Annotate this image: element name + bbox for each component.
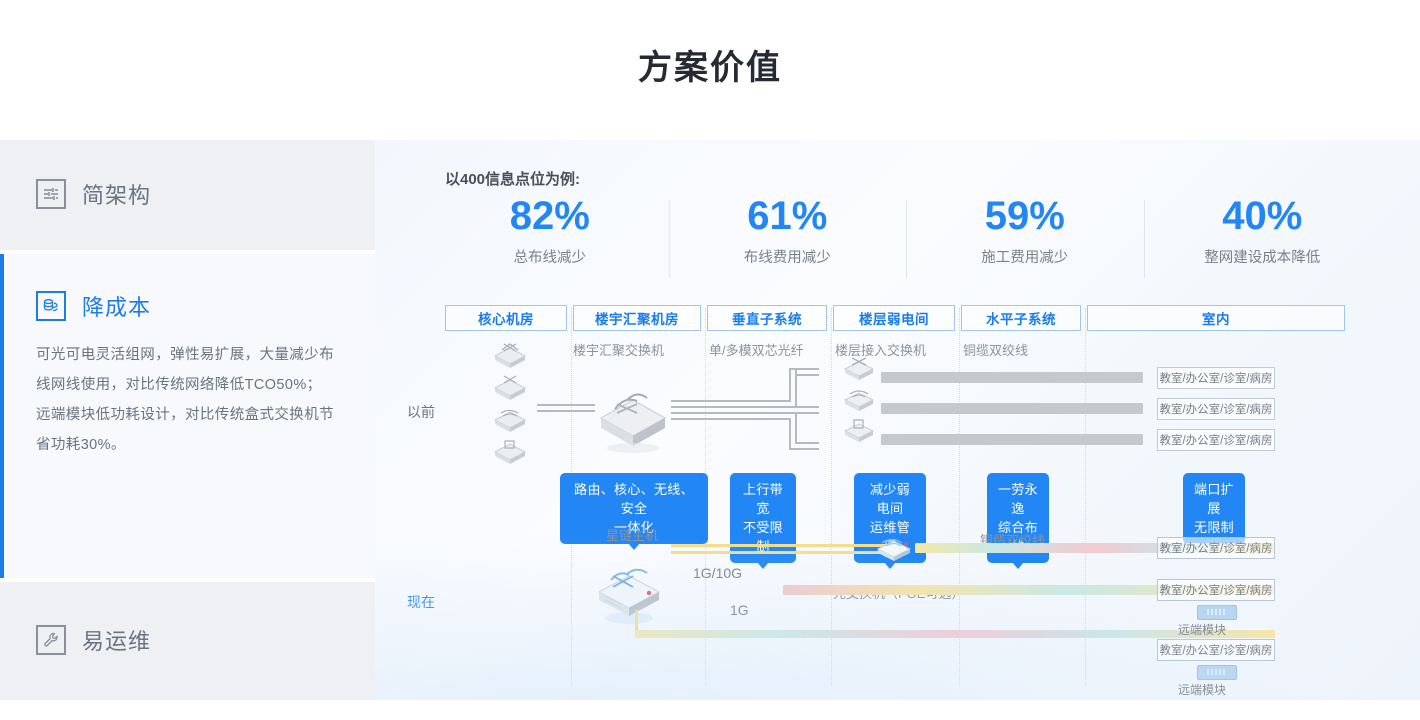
stat-item: 82% 总布线减少 — [431, 192, 669, 278]
floor-access-switch-icon — [841, 385, 877, 415]
copper-cable-bar — [881, 372, 1143, 383]
room-label: 教室/办公室/诊室/病房 — [1157, 367, 1275, 389]
stats-row: 82% 总布线减少 61% 布线费用减少 59% 施工费用减少 40% 整网建设… — [431, 192, 1381, 278]
callout-caption-twisted-pair: 铜缆双绞线 — [980, 530, 1045, 549]
room-label: 教室/办公室/诊室/病房 — [1157, 429, 1275, 451]
value-diagram-panel: 以400信息点位为例: 82% 总布线减少 61% 布线费用减少 59% 施工费… — [375, 140, 1420, 700]
wrench-icon — [36, 625, 66, 655]
stat-value: 40% — [1144, 192, 1382, 240]
sidebar-item-jiangchengben[interactable]: 降成本 可光可电灵活组网，弹性易扩展，大量减少布线网线使用，对比传统网络降低TC… — [0, 254, 375, 578]
copper-cable-bar — [881, 434, 1143, 445]
sidebar-item-header: 简架构 — [0, 140, 375, 210]
fiber-link — [671, 406, 819, 408]
row-label-before: 以前 — [407, 402, 435, 422]
callout-caption-starlink-host: 星链主机 — [606, 525, 658, 544]
sidebar-item-yiyunwei[interactable]: 易运维 — [0, 582, 375, 700]
row-label-now: 现在 — [407, 592, 435, 612]
column-header-vertical: 垂直子系统 — [707, 305, 827, 331]
column-divider — [959, 308, 960, 686]
optical-switch-label: 光交换机（POE可选） — [833, 583, 964, 602]
callout-line-2: 不受限制 — [740, 518, 786, 556]
starlink-host-icon — [591, 560, 667, 628]
column-divider — [1085, 308, 1086, 686]
callout-tag-cabling: 一劳永逸 综合布线 — [987, 473, 1049, 563]
core-switch-icon — [491, 404, 529, 434]
sidebar: 简架构 降成本 — [0, 140, 375, 700]
stat-item: 61% 布线费用减少 — [669, 192, 907, 278]
column-header-floor-closet: 楼层弱电间 — [833, 305, 955, 331]
stat-item: 40% 整网建设成本降低 — [1144, 192, 1382, 278]
callout-line-1: 一劳永逸 — [997, 480, 1039, 518]
coins-icon — [36, 291, 66, 321]
column-sub-fiber: 单/多模双芯光纤 — [709, 340, 804, 359]
sliders-icon — [36, 179, 66, 209]
column-header-indoor: 室内 — [1087, 305, 1345, 331]
fiber-link — [671, 418, 789, 420]
callout-tag-ports: 端口扩展 无限制 — [1183, 473, 1245, 544]
room-label: 教室/办公室/诊室/病房 — [1157, 398, 1275, 420]
uplink-pipe — [671, 544, 893, 547]
callout-tag-integration: 路由、核心、无线、安全 一体化 — [560, 473, 708, 544]
stat-caption: 整网建设成本降低 — [1144, 246, 1382, 267]
column-header-aggregation: 楼宇汇聚机房 — [573, 305, 701, 331]
link-core-to-aggregation — [537, 404, 595, 406]
link-core-to-aggregation — [537, 410, 595, 412]
uplink-pipe — [671, 551, 893, 554]
stat-caption: 施工费用减少 — [906, 246, 1144, 267]
remote-module-label: 远端模块 — [1178, 621, 1226, 638]
column-header-horizontal: 水平子系统 — [961, 305, 1081, 331]
floor-access-switch-icon — [841, 416, 877, 446]
sidebar-item-header: 降成本 — [4, 254, 375, 322]
speed-label-1g10g: 1G/10G — [693, 565, 742, 581]
callout-line-1: 端口扩展 — [1193, 480, 1235, 518]
room-label: 教室/办公室/诊室/病房 — [1157, 639, 1275, 661]
speed-label-1g: 1G — [730, 602, 749, 618]
column-divider — [831, 308, 832, 686]
sidebar-item-label: 简架构 — [82, 178, 151, 210]
core-switch-icon — [491, 372, 529, 402]
downlink-pipe — [635, 610, 638, 634]
remote-module-icon — [1197, 665, 1237, 680]
fiber-link — [789, 368, 791, 402]
sidebar-item-description: 可光可电灵活组网，弹性易扩展，大量减少布线网线使用，对比传统网络降低TCO50%… — [36, 340, 336, 460]
callout-line-1: 减少弱电间 — [864, 480, 916, 518]
callout-line-1: 路由、核心、无线、安全 — [570, 480, 698, 518]
fiber-link — [789, 418, 791, 450]
callout-line-1: 上行带宽 — [740, 480, 786, 518]
remote-module-label: 远端模块 — [1178, 681, 1226, 698]
callout-tag-uplink: 上行带宽 不受限制 — [730, 473, 796, 563]
fiber-link — [795, 442, 819, 444]
stat-caption: 总布线减少 — [431, 246, 669, 267]
callout-tag-ops: 减少弱电间 运维管理 — [854, 473, 926, 563]
fiber-link — [789, 448, 819, 450]
floor-access-switch-icon — [841, 354, 877, 384]
stat-value: 59% — [906, 192, 1144, 240]
room-pipe-gradient — [915, 543, 1275, 553]
fiber-link — [671, 400, 789, 402]
downlink-pipe-gradient — [635, 630, 1275, 638]
fiber-link — [795, 412, 797, 444]
room-label: 教室/办公室/诊室/病房 — [1157, 579, 1275, 601]
fiber-link — [795, 374, 819, 376]
room-pipe-gradient — [783, 585, 1275, 595]
callout-line-2: 综合布线 — [997, 518, 1039, 556]
fiber-link — [789, 368, 819, 370]
optical-switch-icon — [873, 532, 915, 566]
page-title: 方案价值 — [0, 40, 1420, 89]
sidebar-item-label: 易运维 — [82, 624, 151, 656]
sidebar-item-header: 易运维 — [0, 582, 375, 656]
copper-cable-bar — [881, 403, 1143, 414]
room-label: 教室/办公室/诊室/病房 — [1157, 537, 1275, 559]
aggregation-switch-icon — [593, 382, 673, 454]
column-header-core-room: 核心机房 — [445, 305, 567, 331]
callout-line-2: 一体化 — [570, 518, 698, 537]
example-label: 以400信息点位为例: — [445, 168, 580, 189]
stat-caption: 布线费用减少 — [669, 246, 907, 267]
column-sub-twisted-pair: 铜缆双绞线 — [963, 340, 1028, 359]
slide-root: 方案价值 简架构 — [0, 0, 1420, 720]
stat-item: 59% 施工费用减少 — [906, 192, 1144, 278]
column-sub-aggregation-switch: 楼宇汇聚交换机 — [573, 340, 664, 359]
sidebar-item-label: 降成本 — [82, 290, 151, 322]
callout-line-2: 运维管理 — [864, 518, 916, 556]
stat-value: 61% — [669, 192, 907, 240]
core-switch-icon — [491, 340, 529, 370]
core-switch-icon — [491, 436, 529, 466]
fiber-link — [671, 412, 819, 414]
remote-module-icon — [1197, 605, 1237, 620]
sidebar-item-jiajiagou[interactable]: 简架构 — [0, 140, 375, 250]
callout-line-2: 无限制 — [1193, 518, 1235, 537]
stat-value: 82% — [431, 192, 669, 240]
